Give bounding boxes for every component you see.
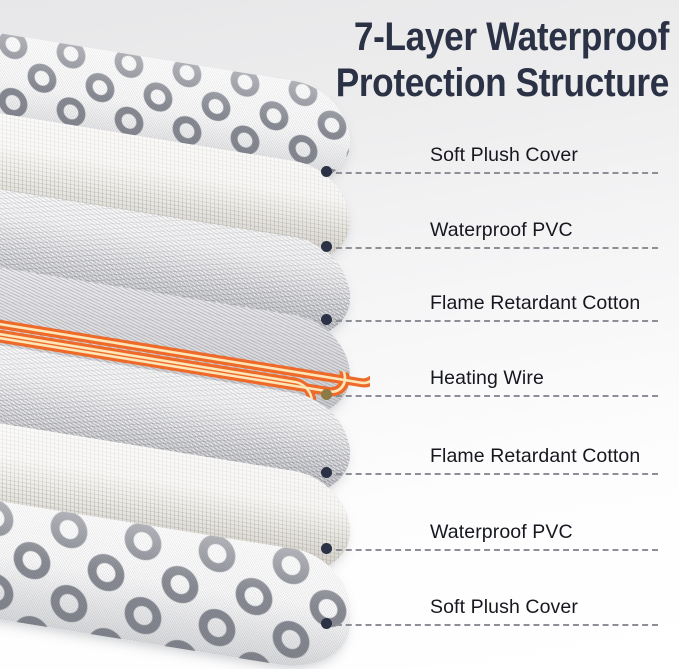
title-line-2: Protection Structure bbox=[300, 60, 669, 106]
layer-label: Soft Plush Cover bbox=[430, 596, 578, 619]
leader-dot bbox=[321, 241, 332, 252]
leader-line bbox=[326, 172, 658, 174]
layer-label: Flame Retardant Cotton bbox=[430, 445, 640, 468]
leader-line bbox=[326, 473, 658, 475]
leader-dot bbox=[321, 543, 332, 554]
leader-dot bbox=[321, 618, 332, 629]
layer-label: Heating Wire bbox=[430, 367, 544, 390]
page-title: 7-Layer Waterproof Protection Structure bbox=[300, 14, 669, 106]
layer-label: Soft Plush Cover bbox=[430, 144, 578, 167]
layer-label: Waterproof PVC bbox=[430, 219, 573, 242]
leader-dot bbox=[321, 389, 332, 400]
layer-label: Flame Retardant Cotton bbox=[430, 292, 640, 315]
leader-dot bbox=[321, 166, 332, 177]
leader-dot bbox=[321, 467, 332, 478]
layer-label: Waterproof PVC bbox=[430, 521, 573, 544]
product-infographic: 7-Layer Waterproof Protection Structure … bbox=[0, 0, 679, 669]
leader-line bbox=[326, 549, 658, 551]
leader-line bbox=[326, 624, 658, 626]
leader-line bbox=[326, 320, 658, 322]
leader-line bbox=[326, 395, 658, 397]
leader-line bbox=[326, 247, 658, 249]
leader-dot bbox=[321, 314, 332, 325]
title-line-1: 7-Layer Waterproof bbox=[300, 14, 669, 60]
